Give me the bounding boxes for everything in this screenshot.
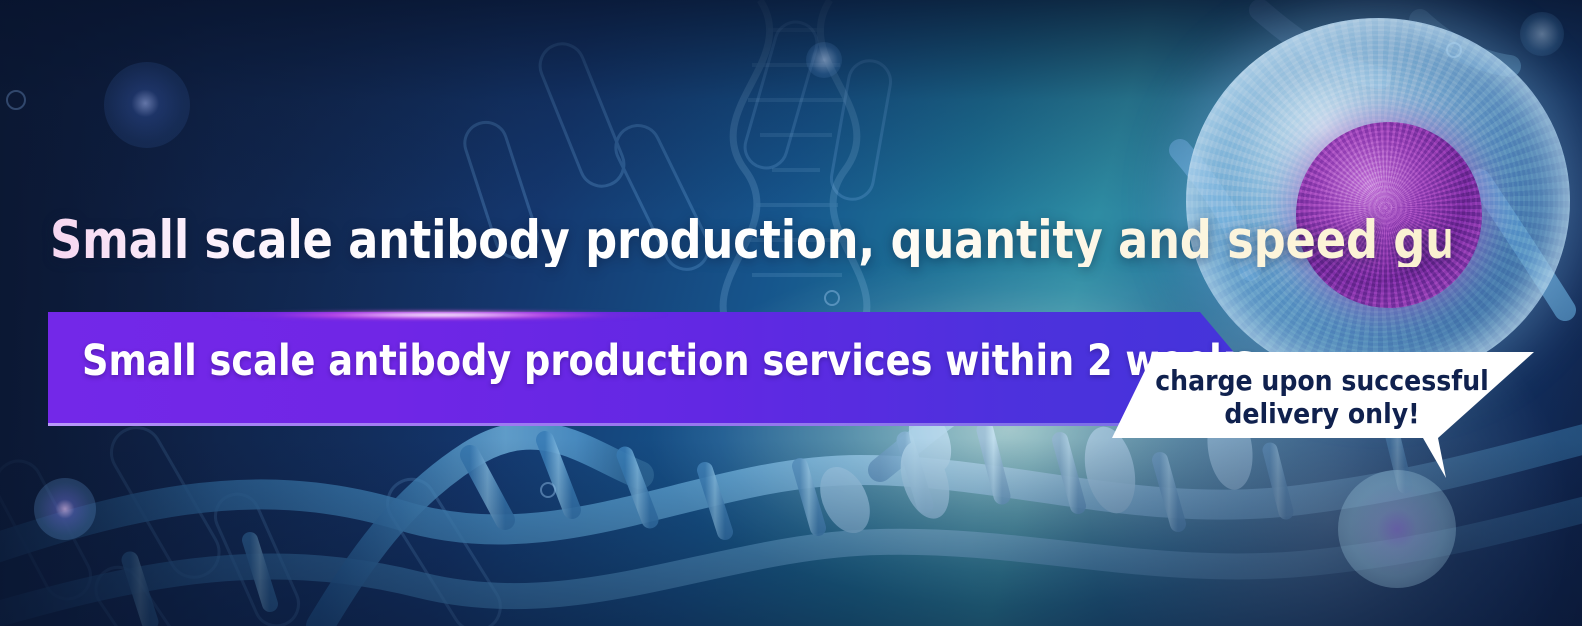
bokeh-ring-icon (540, 482, 556, 498)
bokeh-ring-icon (6, 90, 26, 110)
ribbon-glow-highlight (210, 309, 670, 321)
callout-line-1: charge upon successful (1142, 364, 1502, 397)
bokeh-ring-icon (824, 290, 840, 306)
bokeh-light-circle (34, 478, 96, 540)
ribbon-underline (48, 423, 1254, 426)
callout-line-2: delivery only! (1142, 397, 1502, 430)
bokeh-light-circle (806, 42, 842, 78)
bokeh-light-circle (1338, 470, 1456, 588)
callout-text: charge upon successful delivery only! (1142, 364, 1502, 430)
banner-headline: Small scale antibody production, quantit… (50, 214, 1451, 267)
ribbon-text: Small scale antibody production services… (82, 340, 1256, 383)
bokeh-light-circle (104, 62, 190, 148)
cell-illustration (1186, 18, 1570, 384)
promotional-banner: Small scale antibody production, quantit… (0, 0, 1582, 626)
callout-bubble: charge upon successful delivery only! (1098, 352, 1550, 484)
